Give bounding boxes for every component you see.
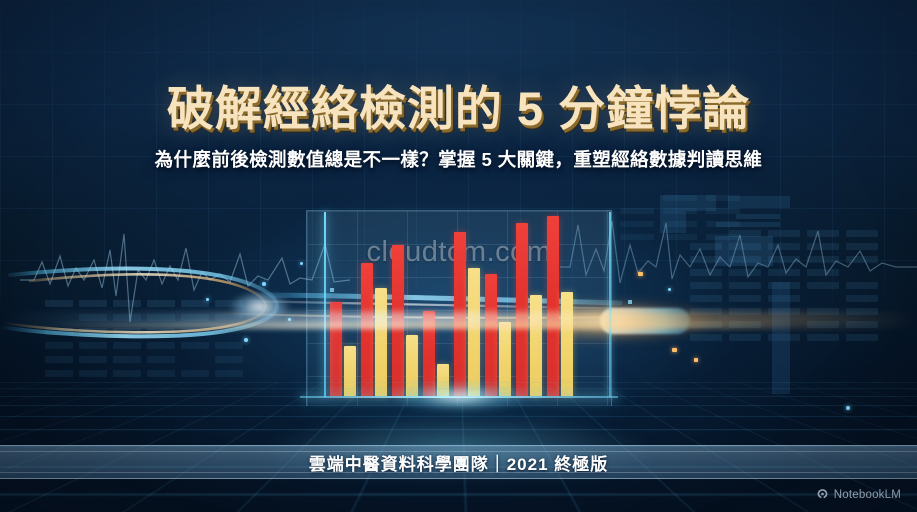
bar-after-2 (375, 288, 387, 396)
decor-block (715, 236, 773, 266)
chart-y-axis (324, 212, 326, 397)
particle-dot (206, 298, 209, 301)
decor-block (716, 222, 780, 227)
particle-dot (244, 338, 248, 342)
bar-before-2 (361, 263, 373, 396)
decor-block (660, 211, 686, 233)
notebooklm-attribution: NotebookLM (816, 488, 901, 501)
bar-after-5 (468, 268, 480, 396)
bar-chart-bars (306, 210, 612, 396)
particle-amber (638, 272, 643, 276)
page-title: 破解經絡檢測的 5 分鐘悖論 (0, 70, 917, 139)
particle-dot (668, 288, 671, 291)
particle-amber (672, 348, 677, 352)
notebooklm-logo-icon (816, 488, 829, 501)
bar-before-7 (516, 223, 528, 396)
page-subtitle: 為什麼前後檢測數值總是不一樣？掌握 5 大關鍵，重塑經絡數據判讀思維 (0, 146, 917, 172)
decor-block (660, 195, 716, 211)
light-beam-secondary (40, 322, 797, 329)
decor-block (728, 196, 790, 208)
decor-block (736, 214, 780, 219)
footer-band: 雲端中醫資料科學團隊｜2021 終極版 (0, 445, 917, 479)
bar-before-8 (547, 216, 559, 396)
chart-y-axis-right (609, 212, 611, 397)
footer-text: 雲端中醫資料科學團隊｜2021 終極版 (309, 450, 609, 475)
particle-square (628, 300, 632, 304)
decor-block (772, 282, 790, 394)
bar-after-8 (561, 292, 573, 396)
particle-dot (300, 262, 303, 265)
slide-canvas: cloudtcm.com 破解經絡檢測的 5 分鐘悖論 為什麼前後檢測數值總是不… (0, 0, 917, 512)
bar-before-6 (485, 274, 497, 396)
bar-after-7 (530, 295, 542, 396)
particle-dot (262, 282, 266, 286)
particle-amber (694, 358, 698, 362)
notebooklm-label: NotebookLM (834, 489, 901, 501)
